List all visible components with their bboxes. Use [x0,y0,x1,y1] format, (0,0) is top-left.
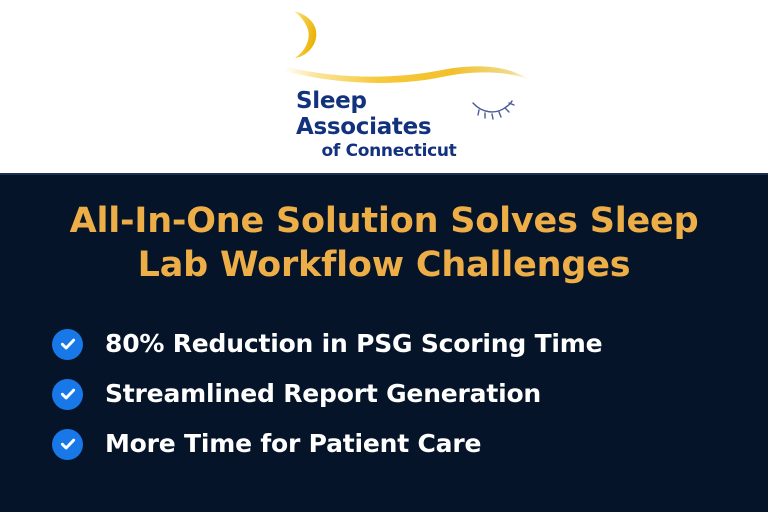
benefit-label: 80% Reduction in PSG Scoring Time [105,329,602,359]
brand-logo: Sleep Associates of Connecticut [282,6,532,166]
panel-top-divider [0,173,768,175]
check-circle-icon [52,379,83,410]
benefit-label: Streamlined Report Generation [105,379,541,409]
promo-graphic: Sleep Associates of Connecticut [0,0,768,512]
check-circle-icon [52,329,83,360]
gold-swoosh-icon [282,54,532,92]
content-panel: All-In-One Solution Solves Sleep Lab Wor… [0,173,768,512]
list-item: Streamlined Report Generation [52,369,742,419]
check-circle-icon [52,429,83,460]
list-item: More Time for Patient Care [52,419,742,469]
logo-name-line-3: of Connecticut [296,140,476,162]
closed-sleeping-eye-icon [470,94,516,124]
benefit-list: 80% Reduction in PSG Scoring Time Stream… [52,319,742,469]
logo-wordmark: Sleep Associates of Connecticut [296,88,476,162]
crescent-moon-icon [286,8,328,60]
logo-band: Sleep Associates of Connecticut [0,0,768,173]
list-item: 80% Reduction in PSG Scoring Time [52,319,742,369]
headline-line-2: Lab Workflow Challenges [40,243,728,287]
logo-name-line-2: Associates [296,114,476,140]
page-title: All-In-One Solution Solves Sleep Lab Wor… [40,199,728,287]
headline-line-1: All-In-One Solution Solves Sleep [40,199,728,243]
logo-name-line-1: Sleep [296,88,476,114]
benefit-label: More Time for Patient Care [105,429,481,459]
